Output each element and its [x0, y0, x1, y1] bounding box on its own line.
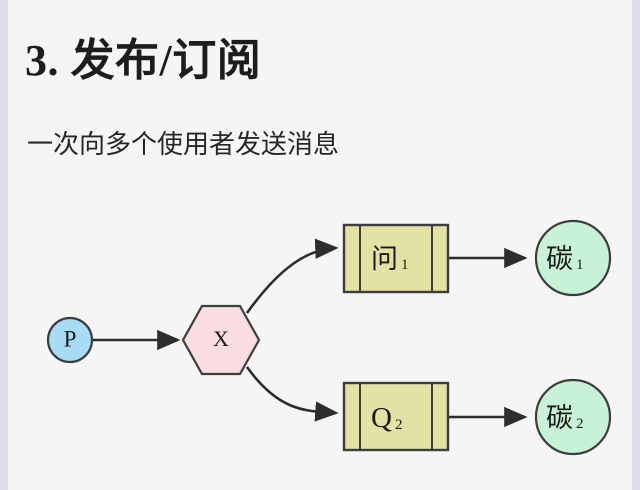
consumer-2-node[interactable]: 碳 2 [536, 380, 610, 454]
consumer-2-label: 碳 [546, 403, 573, 433]
queue-2-subscript: 2 [395, 417, 403, 433]
queue-1-subscript: 1 [401, 257, 409, 273]
connector-exchange-to-queue-1 [247, 248, 336, 313]
slide-right-edge-strip [632, 0, 640, 490]
connector-exchange-to-queue-2 [247, 367, 336, 413]
page-title: 3. 发布/订阅 [25, 24, 261, 88]
queue-1-label: 问 [371, 244, 398, 274]
exchange-label: X [213, 326, 229, 351]
slide-content-area: 3. 发布/订阅 一次向多个使用者发送消息 [8, 0, 632, 490]
exchange-node[interactable]: X [183, 306, 259, 374]
consumer-1-node[interactable]: 碳 1 [536, 221, 610, 295]
queue-1-node[interactable]: 问 1 [344, 225, 448, 292]
slide-canvas: 3. 发布/订阅 一次向多个使用者发送消息 [0, 0, 640, 490]
publisher-label: P [64, 326, 77, 351]
consumer-2-subscript: 2 [576, 416, 584, 432]
publisher-node[interactable]: P [48, 318, 92, 362]
queue-2-node[interactable]: Q 2 [344, 383, 448, 450]
pubsub-diagram: P X 问 1 [8, 195, 632, 485]
consumer-1-subscript: 1 [576, 257, 584, 273]
page-subtitle: 一次向多个使用者发送消息 [27, 124, 339, 161]
queue-2-label: Q [371, 402, 392, 434]
slide-left-edge-strip [0, 0, 8, 490]
consumer-1-label: 碳 [546, 244, 573, 274]
